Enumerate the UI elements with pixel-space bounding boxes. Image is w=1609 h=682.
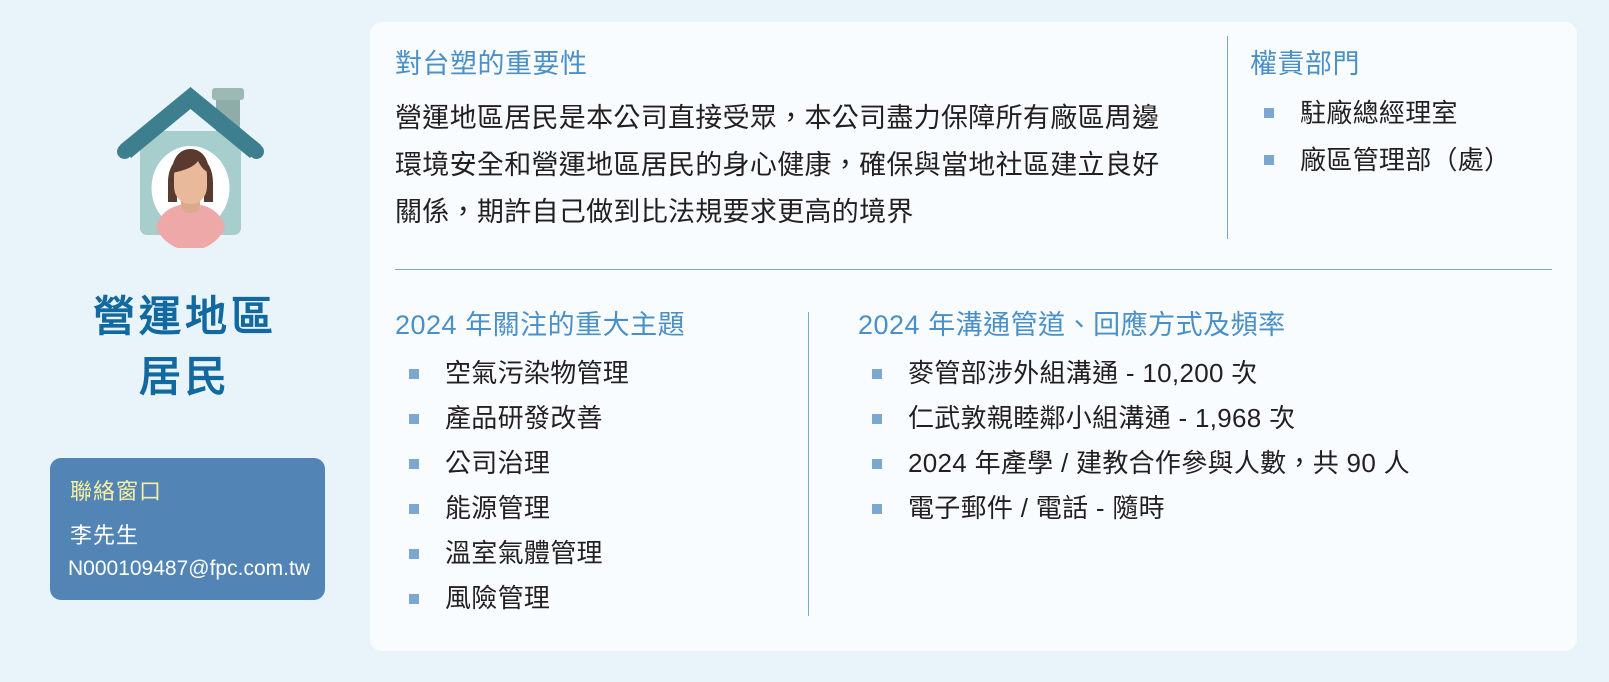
topics-section: 2024 年關注的重大主題 空氣污染物管理 產品研發改善 公司治理 能源管理 溫… — [395, 303, 795, 621]
list-item-label: 產品研發改善 — [445, 403, 603, 433]
list-item: 麥管部涉外組溝通 - 10,200 次 — [858, 351, 1558, 396]
divider-vertical-bottom — [808, 312, 809, 616]
list-item: 產品研發改善 — [395, 396, 795, 441]
bullet-square-icon — [1264, 108, 1274, 118]
page-title-line-2: 居民 — [0, 347, 370, 407]
list-item-label: 駐廠總經理室 — [1300, 98, 1458, 128]
page-title: 營運地區 居民 — [0, 287, 370, 407]
list-item: 公司治理 — [395, 441, 795, 486]
list-item: 電子郵件 / 電話 - 隨時 — [858, 486, 1558, 531]
bullet-square-icon — [872, 504, 882, 514]
list-item-label: 廠區管理部（處） — [1300, 145, 1510, 175]
list-item: 仁武敦親睦鄰小組溝通 - 1,968 次 — [858, 396, 1558, 441]
list-item: 駐廠總經理室 — [1250, 90, 1550, 137]
content-card: 對台塑的重要性 營運地區居民是本公司直接受眾，本公司盡力保障所有廠區周邊環境安全… — [370, 22, 1577, 651]
bullet-square-icon — [872, 459, 882, 469]
list-item-label: 公司治理 — [445, 448, 550, 478]
importance-section: 對台塑的重要性 營運地區居民是本公司直接受眾，本公司盡力保障所有廠區周邊環境安全… — [395, 42, 1185, 236]
list-item-label: 電子郵件 / 電話 - 隨時 — [908, 493, 1165, 523]
bullet-square-icon — [1264, 155, 1274, 165]
channels-heading: 2024 年溝通管道、回應方式及頻率 — [858, 303, 1558, 342]
bullet-square-icon — [409, 549, 419, 559]
list-item: 2024 年產學 / 建教合作參與人數，共 90 人 — [858, 441, 1558, 486]
divider-vertical-top — [1227, 36, 1228, 239]
contact-label: 聯絡窗口 — [70, 474, 162, 506]
stakeholder-left-panel: 營運地區 居民 聯絡窗口 李先生 N000109487@fpc.com.tw — [0, 0, 370, 682]
list-item: 空氣污染物管理 — [395, 351, 795, 396]
list-item-label: 仁武敦親睦鄰小組溝通 - 1,968 次 — [908, 403, 1295, 433]
list-item: 能源管理 — [395, 486, 795, 531]
bullet-square-icon — [409, 414, 419, 424]
list-item-label: 溫室氣體管理 — [445, 538, 603, 568]
list-item-label: 空氣污染物管理 — [445, 358, 629, 388]
departments-heading: 權責部門 — [1250, 42, 1550, 81]
contact-name: 李先生 — [70, 518, 139, 550]
departments-list: 駐廠總經理室 廠區管理部（處） — [1250, 90, 1550, 184]
departments-section: 權責部門 駐廠總經理室 廠區管理部（處） — [1250, 42, 1550, 184]
house-with-resident-icon — [113, 73, 268, 248]
importance-heading: 對台塑的重要性 — [395, 42, 1185, 81]
bullet-square-icon — [409, 504, 419, 514]
list-item-label: 能源管理 — [445, 493, 550, 523]
topics-list: 空氣污染物管理 產品研發改善 公司治理 能源管理 溫室氣體管理 風險管理 — [395, 351, 795, 621]
bullet-square-icon — [409, 594, 419, 604]
list-item: 溫室氣體管理 — [395, 531, 795, 576]
list-item-label: 麥管部涉外組溝通 - 10,200 次 — [908, 358, 1258, 388]
list-item: 廠區管理部（處） — [1250, 137, 1550, 184]
channels-list: 麥管部涉外組溝通 - 10,200 次 仁武敦親睦鄰小組溝通 - 1,968 次… — [858, 351, 1558, 531]
contact-card: 聯絡窗口 李先生 N000109487@fpc.com.tw — [50, 458, 325, 600]
bullet-square-icon — [409, 459, 419, 469]
topics-heading: 2024 年關注的重大主題 — [395, 303, 795, 342]
bullet-square-icon — [872, 369, 882, 379]
bullet-square-icon — [409, 369, 419, 379]
page-title-line-1: 營運地區 — [0, 287, 370, 347]
bullet-square-icon — [872, 414, 882, 424]
channels-section: 2024 年溝通管道、回應方式及頻率 麥管部涉外組溝通 - 10,200 次 仁… — [858, 303, 1558, 531]
list-item-label: 2024 年產學 / 建教合作參與人數，共 90 人 — [908, 448, 1410, 478]
list-item: 風險管理 — [395, 576, 795, 621]
list-item-label: 風險管理 — [445, 583, 550, 613]
divider-horizontal — [395, 269, 1552, 270]
importance-body-text: 營運地區居民是本公司直接受眾，本公司盡力保障所有廠區周邊環境安全和營運地區居民的… — [395, 95, 1165, 236]
contact-email[interactable]: N000109487@fpc.com.tw — [68, 557, 310, 581]
